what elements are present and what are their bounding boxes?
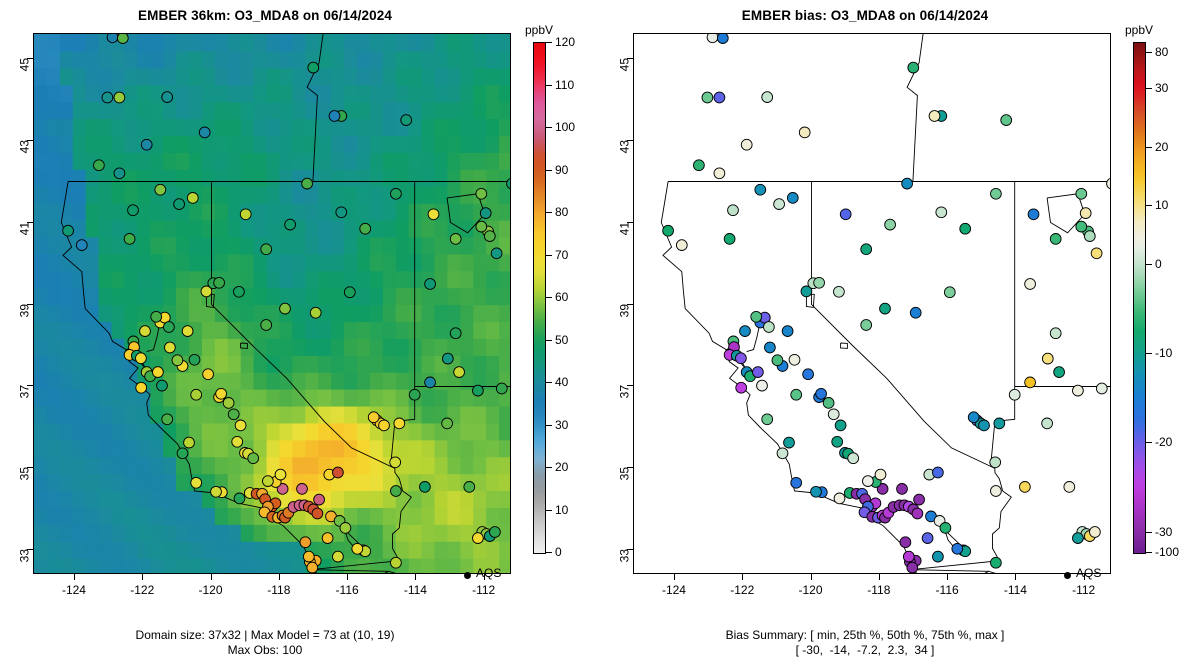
bias-x-tick-label: -116 bbox=[936, 583, 959, 597]
bias-x-tick-label: -114 bbox=[1004, 583, 1027, 597]
model-x-tick bbox=[415, 574, 416, 580]
station-marker[interactable] bbox=[490, 527, 501, 538]
station-marker[interactable] bbox=[360, 223, 371, 234]
station-marker[interactable] bbox=[425, 377, 436, 388]
station-marker[interactable] bbox=[177, 448, 188, 459]
station-marker[interactable] bbox=[811, 486, 822, 497]
station-marker[interactable] bbox=[394, 418, 405, 429]
station-marker[interactable] bbox=[216, 388, 227, 399]
station-marker[interactable] bbox=[910, 307, 921, 318]
station-marker[interactable] bbox=[496, 383, 507, 394]
model-colorbar-unit: ppbV bbox=[525, 23, 553, 37]
station-marker[interactable] bbox=[764, 322, 775, 333]
station-marker[interactable] bbox=[863, 476, 874, 487]
station-marker[interactable] bbox=[420, 482, 431, 493]
station-marker[interactable] bbox=[774, 199, 785, 210]
station-marker[interactable] bbox=[191, 477, 202, 488]
station-marker[interactable] bbox=[94, 160, 105, 171]
model-x-tick-label: -112 bbox=[472, 583, 495, 597]
model-y-tick-label: 43 bbox=[17, 140, 31, 153]
station-marker[interactable] bbox=[1054, 367, 1065, 378]
bias-colorbar: ppbV-100-30-20-10010203080 bbox=[1125, 33, 1200, 574]
station-marker[interactable] bbox=[162, 414, 173, 425]
station-marker[interactable] bbox=[476, 221, 487, 232]
model-colorbar-tick-label: 10 bbox=[555, 503, 568, 517]
station-marker[interactable] bbox=[442, 418, 453, 429]
station-marker[interactable] bbox=[155, 184, 166, 195]
station-marker[interactable] bbox=[952, 543, 963, 554]
station-marker[interactable] bbox=[261, 244, 272, 255]
station-marker[interactable] bbox=[902, 178, 913, 189]
figure-root: EMBER 36km: O3_MDA8 on 06/14/2024AQS-124… bbox=[0, 0, 1200, 672]
station-marker[interactable] bbox=[454, 367, 465, 378]
station-marker[interactable] bbox=[968, 412, 979, 423]
bias-caption-line-2: [ -30, -14, -7.2, 2.3, 34 ] bbox=[600, 643, 1130, 658]
station-marker[interactable] bbox=[308, 62, 319, 73]
model-y-tick-label: 45 bbox=[17, 58, 31, 71]
station-marker[interactable] bbox=[663, 225, 674, 236]
station-marker[interactable] bbox=[300, 537, 311, 548]
station-marker[interactable] bbox=[994, 418, 1005, 429]
station-marker[interactable] bbox=[875, 469, 886, 480]
model-colorbar-tick-label: 30 bbox=[555, 418, 568, 432]
station-marker[interactable] bbox=[63, 225, 74, 236]
station-marker[interactable] bbox=[391, 557, 402, 568]
bias-y-tick-label: 41 bbox=[617, 222, 631, 235]
station-marker[interactable] bbox=[333, 467, 344, 478]
station-marker[interactable] bbox=[907, 562, 918, 573]
station-marker[interactable] bbox=[991, 486, 1002, 497]
station-marker[interactable] bbox=[1025, 377, 1036, 388]
station-marker[interactable] bbox=[922, 533, 933, 544]
station-marker[interactable] bbox=[799, 127, 810, 138]
station-marker[interactable] bbox=[228, 409, 239, 420]
station-marker[interactable] bbox=[897, 484, 908, 495]
station-marker[interactable] bbox=[991, 188, 1002, 199]
station-marker[interactable] bbox=[694, 160, 705, 171]
model-panel-title: EMBER 36km: O3_MDA8 on 06/14/2024 bbox=[0, 8, 530, 23]
bias-x-tick bbox=[1084, 574, 1085, 580]
station-marker[interactable] bbox=[1025, 279, 1036, 290]
station-marker[interactable] bbox=[310, 307, 321, 318]
station-marker[interactable] bbox=[772, 355, 783, 366]
station-marker[interactable] bbox=[491, 248, 502, 259]
station-marker[interactable] bbox=[714, 92, 725, 103]
station-marker[interactable] bbox=[140, 326, 151, 337]
bias-colorbar-tick-label: 0 bbox=[1155, 257, 1162, 271]
bias-plot-area[interactable] bbox=[633, 33, 1111, 574]
station-marker[interactable] bbox=[828, 409, 839, 420]
model-y-tick-label: 41 bbox=[17, 222, 31, 235]
station-marker[interactable] bbox=[940, 523, 951, 534]
model-colorbar-tick-label: 90 bbox=[555, 163, 568, 177]
bias-colorbar-tick-label: -30 bbox=[1155, 525, 1172, 539]
station-marker[interactable] bbox=[900, 537, 911, 548]
station-marker[interactable] bbox=[391, 188, 402, 199]
model-x-tick-label: -124 bbox=[62, 583, 86, 597]
station-marker[interactable] bbox=[425, 279, 436, 290]
station-marker[interactable] bbox=[1050, 328, 1061, 339]
bias-caption: Bias Summary: [ min, 25th %, 50th %, 75t… bbox=[600, 628, 1130, 658]
station-marker[interactable] bbox=[473, 533, 484, 544]
model-colorbar-tick bbox=[546, 297, 552, 298]
station-marker[interactable] bbox=[480, 208, 491, 219]
station-marker[interactable] bbox=[791, 389, 802, 400]
station-marker[interactable] bbox=[164, 322, 175, 333]
station-marker[interactable] bbox=[280, 303, 291, 314]
station-marker[interactable] bbox=[861, 244, 872, 255]
model-colorbar-tick-label: 120 bbox=[555, 35, 575, 49]
station-marker[interactable] bbox=[814, 277, 825, 288]
station-marker[interactable] bbox=[1028, 209, 1039, 220]
station-marker[interactable] bbox=[329, 111, 340, 122]
station-marker[interactable] bbox=[936, 207, 947, 218]
station-marker[interactable] bbox=[128, 205, 139, 216]
station-marker[interactable] bbox=[1020, 482, 1031, 493]
bias-colorbar-tick-label: 10 bbox=[1155, 198, 1168, 212]
station-marker[interactable] bbox=[736, 353, 747, 364]
station-marker[interactable] bbox=[834, 286, 845, 297]
station-marker[interactable] bbox=[199, 127, 210, 138]
model-x-tick bbox=[279, 574, 280, 580]
model-colorbar-tick-label: 0 bbox=[555, 545, 562, 559]
station-marker[interactable] bbox=[1091, 248, 1102, 259]
station-marker[interactable] bbox=[736, 382, 747, 393]
station-marker[interactable] bbox=[157, 380, 168, 391]
model-colorbar-tick-label: 50 bbox=[555, 333, 568, 347]
station-marker[interactable] bbox=[275, 469, 286, 480]
station-marker[interactable] bbox=[787, 193, 798, 204]
bias-x-tick bbox=[674, 574, 675, 580]
station-marker[interactable] bbox=[184, 437, 195, 448]
bias-colorbar-tick bbox=[1146, 552, 1152, 553]
station-marker[interactable] bbox=[1090, 527, 1101, 538]
station-marker[interactable] bbox=[1076, 188, 1087, 199]
model-caption-line-2: Max Obs: 100 bbox=[0, 643, 530, 658]
station-marker[interactable] bbox=[117, 34, 128, 44]
model-panel: EMBER 36km: O3_MDA8 on 06/14/2024AQS-124… bbox=[0, 0, 600, 672]
station-marker[interactable] bbox=[1107, 178, 1111, 189]
bias-x-tick-label: -122 bbox=[730, 583, 754, 597]
station-marker[interactable] bbox=[409, 389, 420, 400]
bias-colorbar-tick-label: -10 bbox=[1155, 346, 1172, 360]
model-colorbar-tick bbox=[546, 382, 552, 383]
station-marker[interactable] bbox=[1042, 353, 1053, 364]
model-x-tick-label: -118 bbox=[267, 583, 290, 597]
station-marker[interactable] bbox=[223, 398, 234, 409]
station-marker[interactable] bbox=[214, 277, 225, 288]
station-marker[interactable] bbox=[312, 508, 323, 519]
bias-y-tick-label: 33 bbox=[617, 549, 631, 562]
station-marker[interactable] bbox=[803, 369, 814, 380]
station-marker[interactable] bbox=[782, 326, 793, 337]
station-marker[interactable] bbox=[990, 457, 1001, 468]
station-marker[interactable] bbox=[141, 139, 152, 150]
station-marker[interactable] bbox=[165, 342, 176, 353]
station-marker[interactable] bbox=[107, 34, 118, 43]
station-marker[interactable] bbox=[336, 207, 347, 218]
bias-colorbar-tick-label: -100 bbox=[1155, 545, 1179, 559]
station-marker[interactable] bbox=[464, 482, 475, 493]
model-colorbar-tick-label: 80 bbox=[555, 205, 568, 219]
station-marker[interactable] bbox=[979, 420, 990, 431]
bias-x-tick bbox=[947, 574, 948, 580]
station-marker[interactable] bbox=[991, 557, 1002, 568]
station-marker[interactable] bbox=[1073, 533, 1084, 544]
station-marker[interactable] bbox=[340, 523, 351, 534]
bias-colorbar-tick bbox=[1146, 532, 1152, 533]
station-marker[interactable] bbox=[740, 326, 751, 337]
station-marker[interactable] bbox=[933, 551, 944, 562]
station-marker[interactable] bbox=[390, 457, 401, 468]
model-x-tick-label: -122 bbox=[130, 583, 154, 597]
bias-x-tick bbox=[879, 574, 880, 580]
station-marker[interactable] bbox=[908, 62, 919, 73]
station-marker[interactable] bbox=[960, 223, 971, 234]
station-marker[interactable] bbox=[234, 493, 245, 504]
station-marker[interactable] bbox=[714, 168, 725, 179]
station-marker[interactable] bbox=[189, 354, 200, 365]
model-colorbar-tick bbox=[546, 510, 552, 511]
station-marker[interactable] bbox=[1076, 221, 1087, 232]
station-marker[interactable] bbox=[753, 367, 764, 378]
model-x-tick-label: -116 bbox=[336, 583, 359, 597]
station-marker[interactable] bbox=[476, 188, 487, 199]
station-marker[interactable] bbox=[191, 389, 202, 400]
model-plot-area[interactable] bbox=[33, 33, 511, 574]
station-marker[interactable] bbox=[1042, 418, 1053, 429]
station-marker[interactable] bbox=[757, 380, 768, 391]
station-marker[interactable] bbox=[182, 326, 193, 337]
station-marker[interactable] bbox=[285, 219, 296, 230]
station-marker[interactable] bbox=[1073, 385, 1084, 396]
station-marker[interactable] bbox=[344, 287, 355, 298]
model-x-tick-label: -120 bbox=[199, 583, 223, 597]
station-marker[interactable] bbox=[102, 92, 113, 103]
station-marker[interactable] bbox=[450, 234, 461, 245]
station-marker[interactable] bbox=[741, 139, 752, 150]
bias-x-tick-label: -118 bbox=[867, 583, 890, 597]
bias-colorbar-tick bbox=[1146, 147, 1152, 148]
bias-colorbar-tick bbox=[1146, 52, 1152, 53]
station-marker[interactable] bbox=[114, 92, 125, 103]
station-marker[interactable] bbox=[702, 92, 713, 103]
bias-colorbar-unit: ppbV bbox=[1125, 23, 1153, 37]
station-marker[interactable] bbox=[240, 209, 251, 220]
station-marker[interactable] bbox=[751, 311, 762, 322]
station-marker[interactable] bbox=[880, 303, 891, 314]
station-marker[interactable] bbox=[1080, 208, 1091, 219]
bias-station-markers[interactable] bbox=[663, 34, 1111, 573]
station-marker[interactable] bbox=[834, 493, 845, 504]
bias-colorbar-tick-label: 20 bbox=[1155, 140, 1168, 154]
station-marker[interactable] bbox=[728, 205, 739, 216]
station-marker[interactable] bbox=[784, 437, 795, 448]
model-colorbar-tick bbox=[546, 42, 552, 43]
station-marker[interactable] bbox=[379, 420, 390, 431]
station-marker[interactable] bbox=[368, 412, 379, 423]
model-y-axis: 33353739414345 bbox=[0, 33, 33, 574]
station-marker[interactable] bbox=[676, 240, 687, 251]
station-marker[interactable] bbox=[1050, 234, 1061, 245]
station-marker[interactable] bbox=[929, 111, 940, 122]
station-marker[interactable] bbox=[174, 199, 185, 210]
station-marker[interactable] bbox=[765, 342, 776, 353]
station-marker[interactable] bbox=[307, 562, 318, 573]
station-marker[interactable] bbox=[391, 486, 402, 497]
model-x-tick bbox=[211, 574, 212, 580]
model-colorbar-tick-label: 70 bbox=[555, 248, 568, 262]
bias-colorbar-tick-label: -20 bbox=[1155, 435, 1172, 449]
model-caption: Domain size: 37x32 | Max Model = 73 at (… bbox=[0, 628, 530, 658]
station-marker[interactable] bbox=[151, 311, 162, 322]
model-colorbar-tick bbox=[546, 85, 552, 86]
station-marker[interactable] bbox=[302, 178, 313, 189]
model-caption-line-1: Domain size: 37x32 | Max Model = 73 at (… bbox=[0, 628, 530, 643]
station-marker[interactable] bbox=[816, 388, 827, 399]
model-x-tick bbox=[142, 574, 143, 580]
station-marker[interactable] bbox=[762, 92, 773, 103]
station-marker[interactable] bbox=[933, 467, 944, 478]
model-colorbar-tick-label: 60 bbox=[555, 290, 568, 304]
station-marker[interactable] bbox=[1009, 389, 1020, 400]
station-marker[interactable] bbox=[1084, 231, 1095, 242]
model-x-axis: -124-122-120-118-116-114-112 bbox=[33, 574, 511, 604]
model-colorbar-tick bbox=[546, 127, 552, 128]
station-marker[interactable] bbox=[484, 231, 495, 242]
model-colorbar-tick-label: 100 bbox=[555, 120, 575, 134]
station-marker[interactable] bbox=[861, 320, 872, 331]
station-marker[interactable] bbox=[263, 476, 274, 487]
station-marker[interactable] bbox=[248, 453, 259, 464]
station-marker[interactable] bbox=[912, 508, 923, 519]
station-marker[interactable] bbox=[153, 367, 164, 378]
bias-colorbar-tick bbox=[1146, 264, 1152, 265]
bias-colorbar-gradient bbox=[1133, 42, 1146, 554]
model-y-tick-label: 35 bbox=[17, 467, 31, 480]
bias-x-tick bbox=[1015, 574, 1016, 580]
station-marker[interactable] bbox=[136, 353, 147, 364]
bias-colorbar-tick-label: 30 bbox=[1155, 81, 1168, 95]
station-marker[interactable] bbox=[885, 219, 896, 230]
station-marker[interactable] bbox=[428, 209, 439, 220]
model-x-tick bbox=[74, 574, 75, 580]
station-marker[interactable] bbox=[944, 287, 955, 298]
station-marker[interactable] bbox=[1064, 482, 1075, 493]
bias-map-canvas bbox=[634, 34, 1111, 574]
station-marker[interactable] bbox=[789, 354, 800, 365]
station-marker[interactable] bbox=[114, 168, 125, 179]
station-marker[interactable] bbox=[76, 240, 87, 251]
bias-x-axis: -124-122-120-118-116-114-112 bbox=[633, 574, 1111, 604]
bias-x-tick-label: -124 bbox=[662, 583, 686, 597]
model-y-tick-label: 39 bbox=[17, 304, 31, 317]
station-marker[interactable] bbox=[442, 353, 453, 364]
bias-x-tick-label: -120 bbox=[799, 583, 823, 597]
bias-x-tick-label: -112 bbox=[1072, 583, 1095, 597]
station-marker[interactable] bbox=[473, 385, 484, 396]
bias-colorbar-tick bbox=[1146, 205, 1152, 206]
station-marker[interactable] bbox=[450, 328, 461, 339]
model-colorbar-tick-label: 20 bbox=[555, 460, 568, 474]
station-marker[interactable] bbox=[755, 184, 766, 195]
station-marker[interactable] bbox=[172, 355, 183, 366]
station-marker[interactable] bbox=[297, 484, 308, 495]
station-marker[interactable] bbox=[724, 234, 735, 245]
model-colorbar-tick bbox=[546, 340, 552, 341]
station-marker[interactable] bbox=[848, 453, 859, 464]
station-marker[interactable] bbox=[303, 551, 314, 562]
station-marker[interactable] bbox=[136, 382, 147, 393]
model-x-tick bbox=[484, 574, 485, 580]
station-marker[interactable] bbox=[124, 234, 135, 245]
model-colorbar-tick bbox=[546, 255, 552, 256]
bias-panel-title: EMBER bias: O3_MDA8 on 06/14/2024 bbox=[600, 8, 1130, 23]
bias-y-tick-label: 35 bbox=[617, 467, 631, 480]
station-marker[interactable] bbox=[232, 436, 243, 447]
station-marker[interactable] bbox=[234, 286, 245, 297]
model-colorbar-tick-label: 40 bbox=[555, 375, 568, 389]
station-marker[interactable] bbox=[832, 436, 843, 447]
station-marker[interactable] bbox=[791, 477, 802, 488]
station-marker[interactable] bbox=[840, 209, 851, 220]
station-marker[interactable] bbox=[823, 398, 834, 409]
model-map-canvas bbox=[34, 34, 511, 574]
station-marker[interactable] bbox=[717, 34, 728, 44]
bias-x-tick bbox=[811, 574, 812, 580]
model-colorbar-tick bbox=[546, 212, 552, 213]
model-grid-field bbox=[34, 34, 511, 574]
station-marker[interactable] bbox=[162, 92, 173, 103]
model-colorbar-tick bbox=[546, 467, 552, 468]
model-colorbar-tick-label: 110 bbox=[555, 78, 574, 92]
bias-colorbar-tick bbox=[1146, 88, 1152, 89]
bias-y-tick-label: 37 bbox=[617, 385, 631, 398]
station-marker[interactable] bbox=[235, 420, 246, 431]
model-colorbar-tick bbox=[546, 552, 552, 553]
station-marker[interactable] bbox=[1001, 115, 1012, 126]
station-marker[interactable] bbox=[203, 369, 214, 380]
bias-colorbar-tick bbox=[1146, 353, 1152, 354]
station-marker[interactable] bbox=[903, 551, 914, 562]
station-marker[interactable] bbox=[1096, 383, 1107, 394]
model-x-tick-label: -114 bbox=[404, 583, 427, 597]
station-marker[interactable] bbox=[187, 193, 198, 204]
model-x-tick bbox=[347, 574, 348, 580]
model-colorbar-tick bbox=[546, 425, 552, 426]
station-marker[interactable] bbox=[211, 486, 222, 497]
station-marker[interactable] bbox=[707, 34, 718, 43]
station-marker[interactable] bbox=[777, 448, 788, 459]
bias-x-tick bbox=[742, 574, 743, 580]
bias-colorbar-tick bbox=[1146, 442, 1152, 443]
bias-y-tick-label: 45 bbox=[617, 58, 631, 71]
station-marker[interactable] bbox=[835, 420, 846, 431]
station-marker[interactable] bbox=[914, 494, 925, 505]
station-marker[interactable] bbox=[762, 414, 773, 425]
bias-y-tick-label: 43 bbox=[617, 140, 631, 153]
station-marker[interactable] bbox=[261, 320, 272, 331]
bias-y-axis: 33353739414345 bbox=[600, 33, 633, 574]
station-marker[interactable] bbox=[352, 543, 363, 554]
bias-colorbar-tick-label: 80 bbox=[1155, 45, 1168, 59]
station-marker[interactable] bbox=[333, 551, 344, 562]
model-colorbar-tick bbox=[546, 170, 552, 171]
model-y-tick-label: 37 bbox=[17, 385, 31, 398]
station-marker[interactable] bbox=[314, 494, 325, 505]
station-marker[interactable] bbox=[322, 533, 333, 544]
station-marker[interactable] bbox=[401, 115, 412, 126]
